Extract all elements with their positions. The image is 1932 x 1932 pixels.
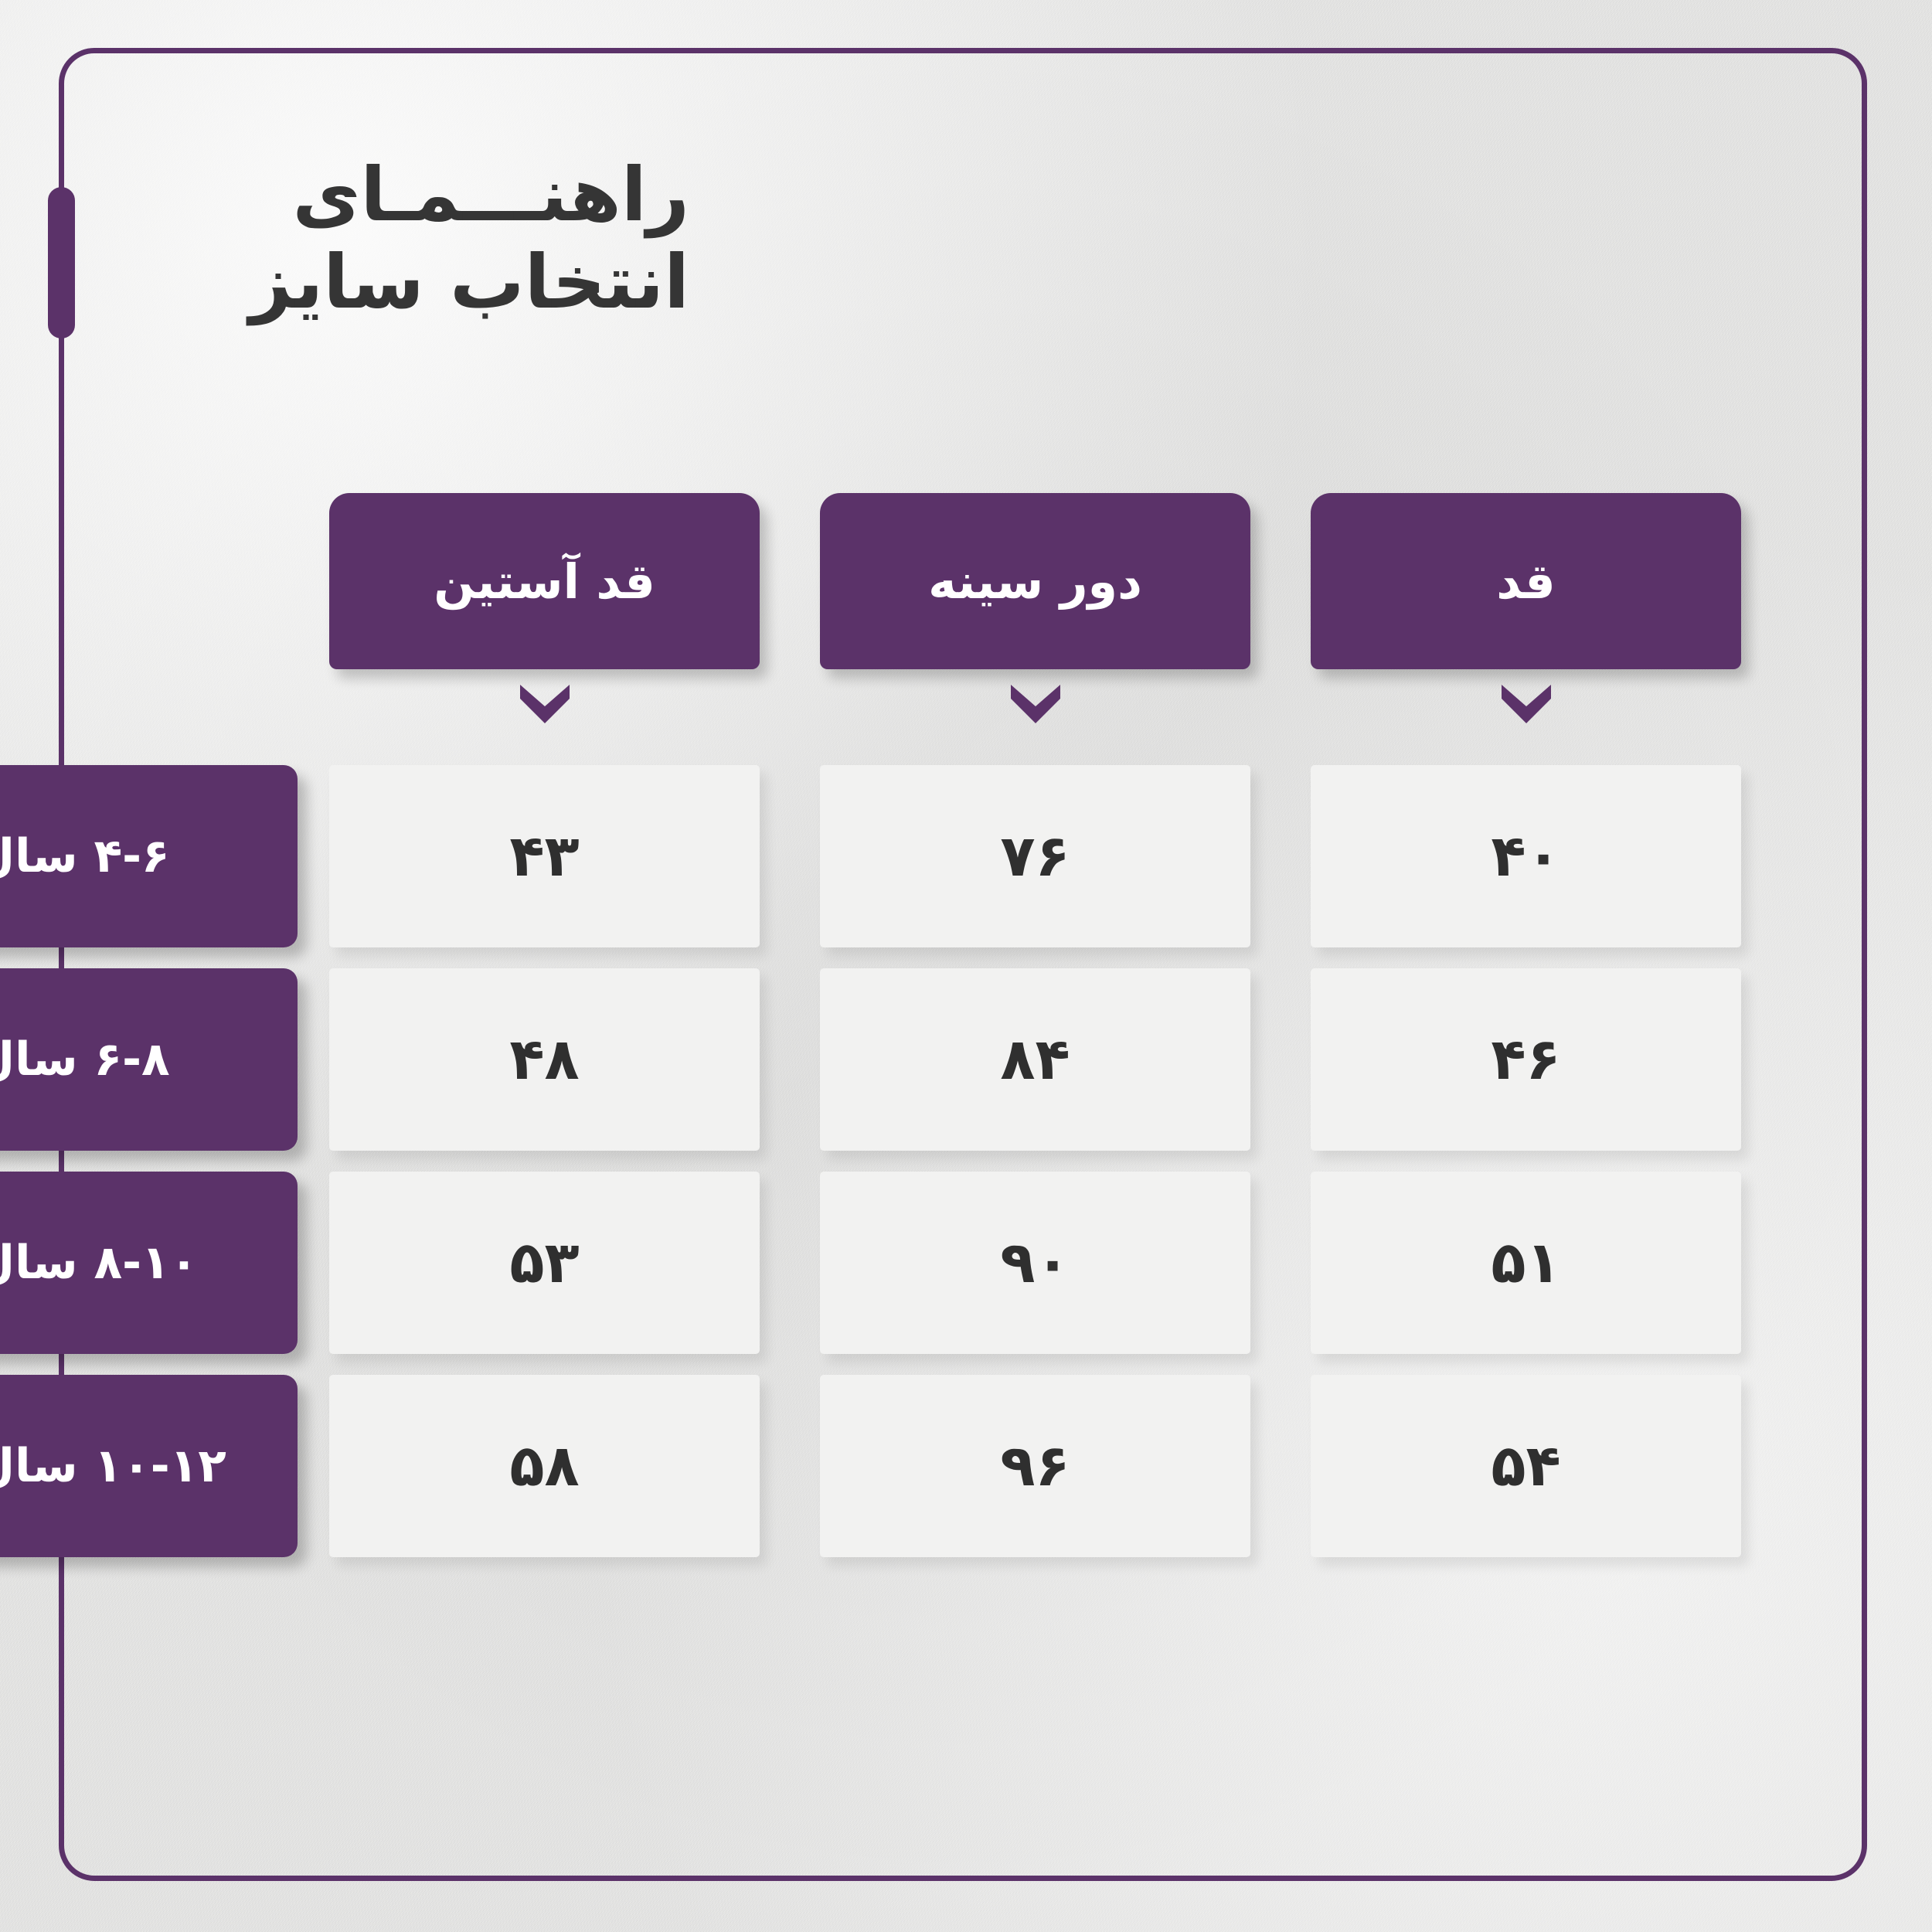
table-cell: ۵۱ <box>1311 1172 1741 1354</box>
table-cell: ۴۰ <box>1311 765 1741 947</box>
table-cell: ۹۰ <box>820 1172 1250 1354</box>
row-header-label: ۴-۶ سال <box>0 829 298 883</box>
cell-value: ۴۰ <box>1491 823 1560 889</box>
table-cell: ۵۴ <box>1311 1375 1741 1557</box>
table-cell: ۷۶ <box>820 765 1250 947</box>
page-title-line-1: راهنـــمـای <box>133 151 689 239</box>
cell-value: ۴۶ <box>1491 1026 1560 1093</box>
row-header-age-4-6: ۴-۶ سال <box>0 765 298 947</box>
table-cell: ۴۶ <box>1311 968 1741 1151</box>
cell-value: ۵۸ <box>509 1433 579 1499</box>
cell-value: ۹۰ <box>1000 1230 1070 1296</box>
table-cell: ۵۳ <box>329 1172 760 1354</box>
row-header-age-6-8: ۶-۸ سال <box>0 968 298 1151</box>
chevron-down-icon <box>1502 685 1551 723</box>
row-header-label: ۱۰-۱۲ سال <box>0 1439 298 1493</box>
cell-value: ۷۶ <box>1000 823 1070 889</box>
column-header-length: قد <box>1311 493 1741 669</box>
cell-value: ۴۸ <box>509 1026 579 1093</box>
chevron-down-icon <box>520 685 570 723</box>
size-guide-poster: راهنـــمـای انتخاب سایز قد دور سینه قد آ… <box>0 0 1932 1932</box>
column-header-label: قد <box>1496 553 1555 610</box>
cell-value: ۵۳ <box>509 1230 579 1296</box>
table-cell: ۹۶ <box>820 1375 1250 1557</box>
cell-value: ۵۱ <box>1491 1230 1560 1296</box>
cell-value: ۸۴ <box>1000 1026 1070 1093</box>
column-header-label: دور سینه <box>928 553 1142 610</box>
row-header-label: ۸-۱۰ سال <box>0 1236 298 1290</box>
table-cell: ۴۳ <box>329 765 760 947</box>
column-header-chest: دور سینه <box>820 493 1250 669</box>
cell-value: ۵۴ <box>1491 1433 1560 1499</box>
row-header-age-10-12: ۱۰-۱۲ سال <box>0 1375 298 1557</box>
table-cell: ۸۴ <box>820 968 1250 1151</box>
page-title: راهنـــمـای انتخاب سایز <box>133 151 689 327</box>
cell-value: ۹۶ <box>1000 1433 1070 1499</box>
table-cell: ۴۸ <box>329 968 760 1151</box>
chevron-down-icon <box>1011 685 1060 723</box>
page-title-line-2: انتخاب سایز <box>133 239 689 326</box>
cell-value: ۴۳ <box>509 823 579 889</box>
column-header-sleeve-length: قد آستین <box>329 493 760 669</box>
decorative-frame-accent-pill <box>48 187 75 338</box>
table-cell: ۵۸ <box>329 1375 760 1557</box>
column-header-label: قد آستین <box>434 553 655 610</box>
row-header-label: ۶-۸ سال <box>0 1032 298 1087</box>
row-header-age-8-10: ۸-۱۰ سال <box>0 1172 298 1354</box>
